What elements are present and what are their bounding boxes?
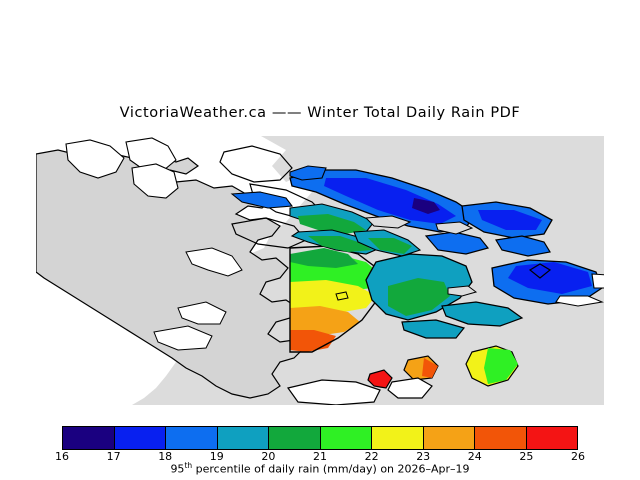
colorbar-band-17-18[interactable] xyxy=(115,427,167,449)
caption-ordinal-suffix: th xyxy=(184,461,192,470)
saanich-lake xyxy=(336,292,348,300)
colorbar-band-22-23[interactable] xyxy=(372,427,424,449)
colorbar-band-20-21[interactable] xyxy=(269,427,321,449)
colorbar-band-24-25[interactable] xyxy=(475,427,527,449)
map-svg xyxy=(36,136,604,405)
weather-map-figure: VictoriaWeather.ca —— Winter Total Daily… xyxy=(0,0,640,480)
colorbar-band-18-19[interactable] xyxy=(166,427,218,449)
caption-text: percentile of daily rain (mm/day) on 202… xyxy=(192,463,469,476)
east-island-tail xyxy=(592,274,604,288)
colorbar-band-19-20[interactable] xyxy=(218,427,270,449)
colorbar-band-16-17[interactable] xyxy=(63,427,115,449)
colorbar-band-25-26[interactable] xyxy=(527,427,578,449)
figure-title: VictoriaWeather.ca —— Winter Total Daily… xyxy=(0,105,640,121)
map-canvas xyxy=(36,136,604,405)
colorbar-band-23-24[interactable] xyxy=(424,427,476,449)
colorbar[interactable] xyxy=(62,426,578,450)
caption-value: 95 xyxy=(170,463,184,476)
colorbar-band-21-22[interactable] xyxy=(321,427,373,449)
colorbar-caption: 95th percentile of daily rain (mm/day) o… xyxy=(0,461,640,476)
